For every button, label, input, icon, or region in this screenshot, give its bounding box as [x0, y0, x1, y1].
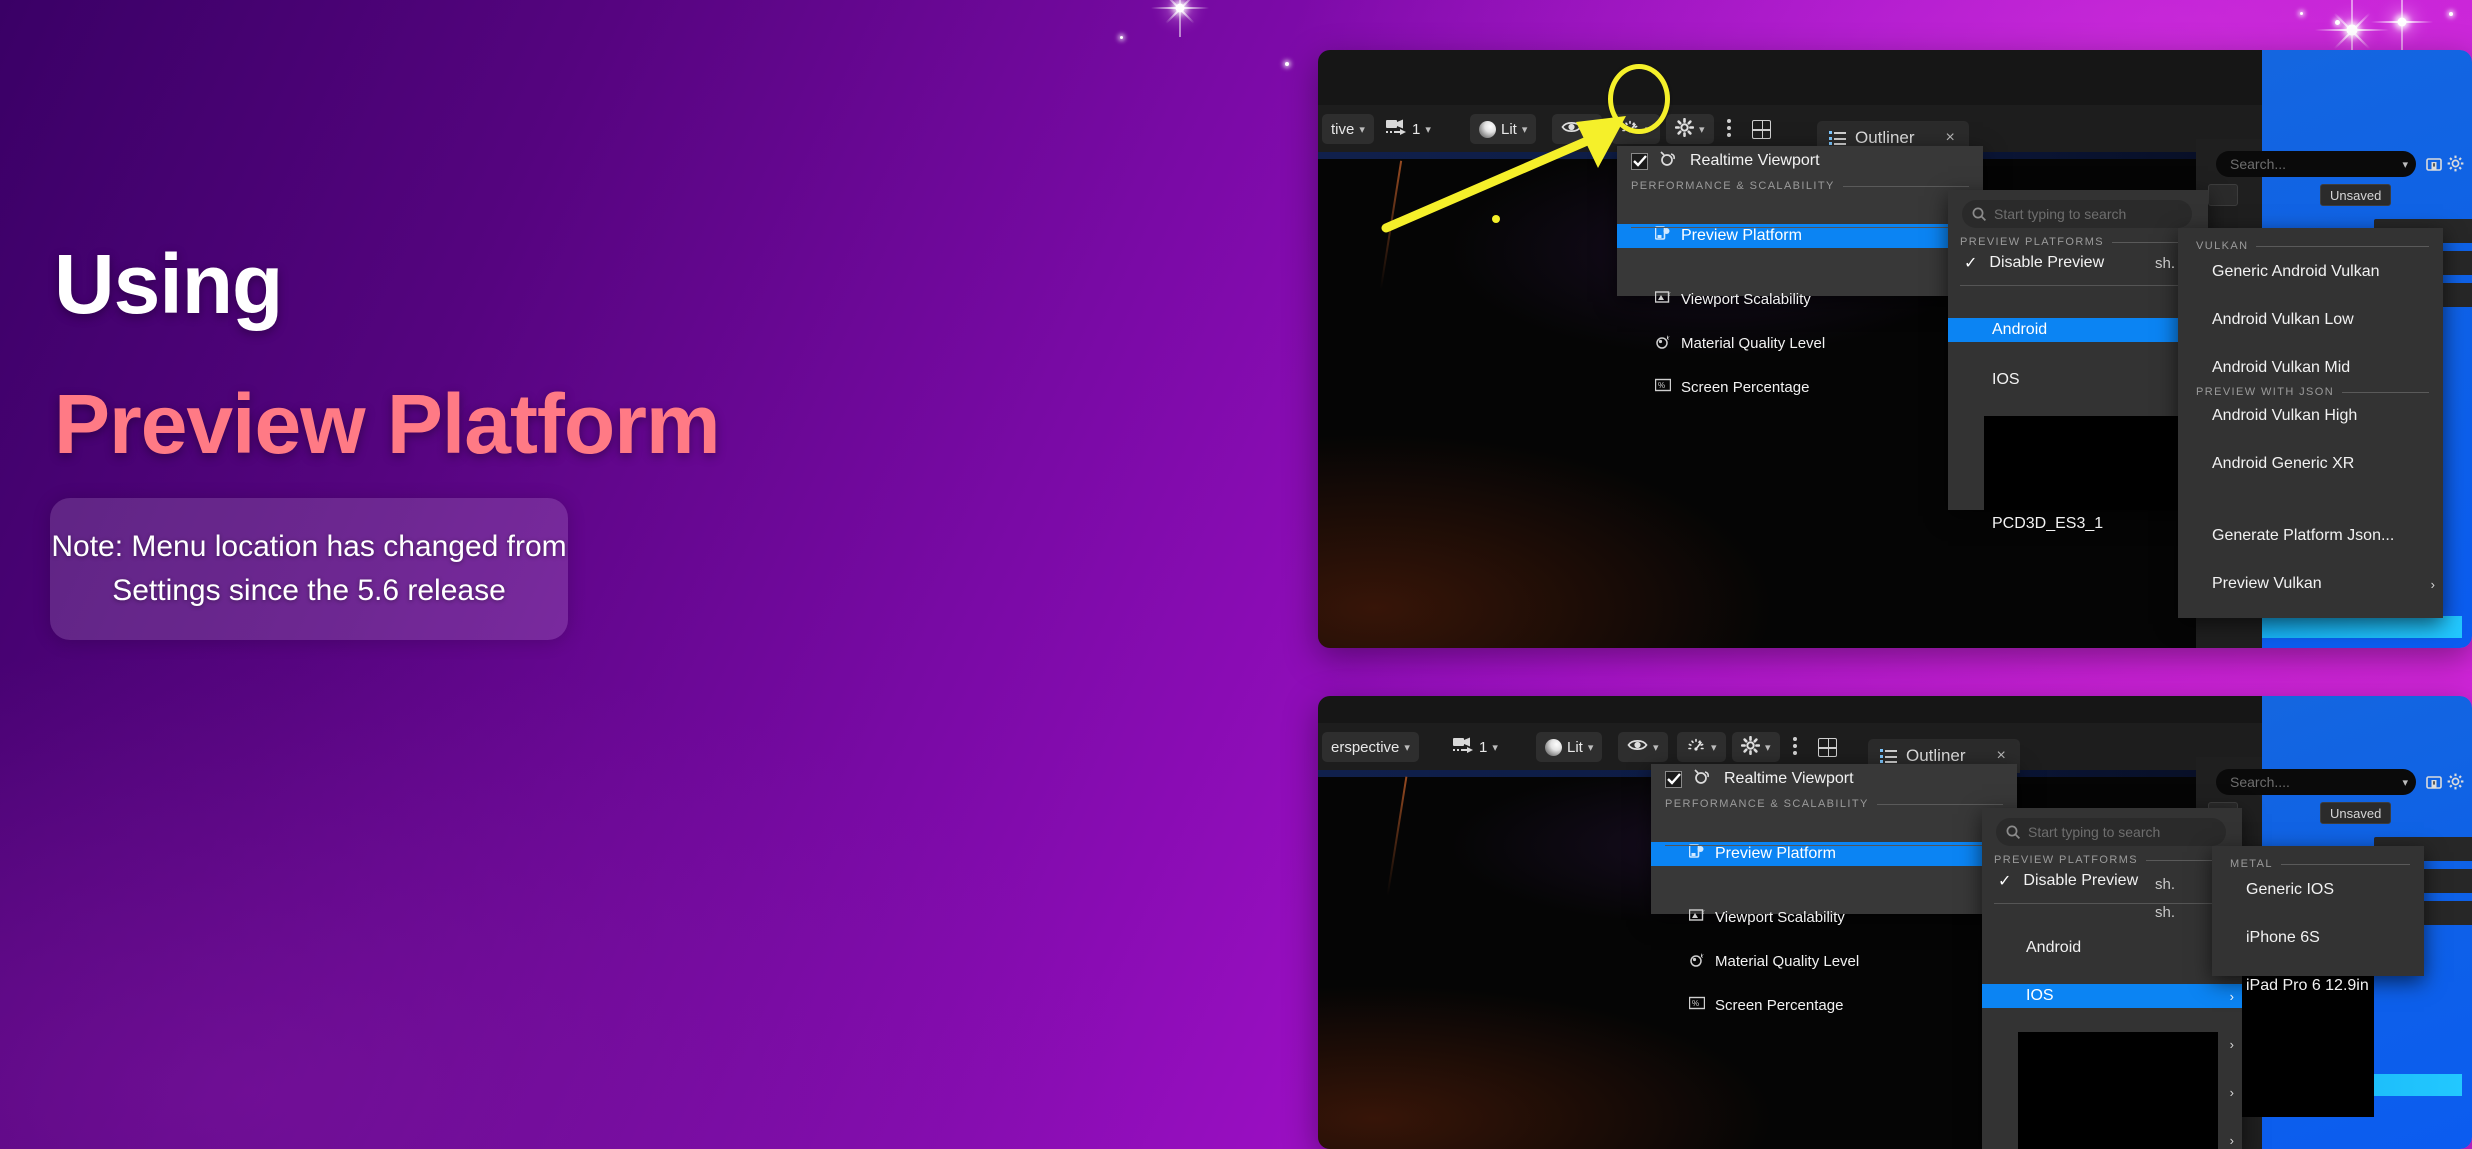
note-text: Note: Menu location has changed from Set… [50, 525, 568, 614]
menu-item-platform-label: Android [1992, 321, 2047, 339]
menu-section-performance: PERFORMANCE & SCALABILITY [1631, 180, 1969, 192]
menu-item-device[interactable]: iPhone 6S [2212, 926, 2424, 950]
menu-section-label: PERFORMANCE & SCALABILITY [1631, 180, 1835, 192]
menu-section-label: PREVIEW PLATFORMS [1994, 854, 2138, 866]
gear-icon [1675, 118, 1694, 141]
menu-item-json-label: Preview Vulkan [2212, 575, 2322, 593]
menu-section-label: VULKAN [2196, 240, 2248, 252]
menu-item-device[interactable]: Android Vulkan High [2178, 404, 2443, 428]
svg-text:%: % [1692, 999, 1699, 1008]
menu-item-preview-platform-label: Preview Platform [1681, 227, 1802, 245]
menu-item-screen-percentage[interactable]: % Screen Percentage › [1617, 376, 1983, 398]
outliner-partial-label: sh. [2155, 255, 2175, 272]
chevron-right-icon: › [2230, 1085, 2234, 1100]
page-title: Using Preview Platform [54, 240, 720, 468]
screenshot-bottom: Search.... ▾ Unsaved [1318, 696, 2472, 1149]
view-mode-label: erspective [1331, 739, 1399, 756]
menu-item-viewport-scalability[interactable]: Viewport Scalability › [1651, 906, 2017, 928]
platform-search-input[interactable]: Start typing to search [1996, 818, 2226, 846]
check-icon: ✓ [1998, 871, 2011, 891]
headline-line-1: Using [54, 240, 720, 328]
view-mode-lit-dropdown[interactable]: Lit ▾ [1536, 732, 1602, 762]
chevron-right-icon: › [2431, 577, 2435, 592]
unsaved-filter-button[interactable]: Unsaved [2320, 802, 2391, 824]
tab-outliner-label: Outliner [1906, 746, 1966, 766]
ios-device-submenu: METAL Generic IOS iPhone 6S iPad Pro 6 1… [2212, 846, 2424, 976]
chevron-down-icon: ▾ [1653, 741, 1659, 754]
performance-scalability-dropdown[interactable]: ▾ [1677, 732, 1726, 762]
chevron-down-icon[interactable]: ▾ [2402, 158, 2408, 171]
menu-item-preview-platform-label: Preview Platform [1715, 845, 1836, 863]
viewport-scalability-icon [1689, 908, 1705, 927]
layout-grid-button[interactable] [1812, 732, 1843, 762]
sparkle-dot [1120, 36, 1123, 39]
menu-section-label: METAL [2230, 858, 2273, 870]
outliner-search-input[interactable]: Search... ▾ [2216, 151, 2416, 177]
platform-search-placeholder: Start typing to search [1994, 206, 2126, 222]
menu-item-screen-percentage-label: Screen Percentage [1681, 379, 1809, 396]
submenu-empty-area [1984, 416, 2184, 510]
chevron-down-icon: ▾ [1699, 123, 1705, 136]
gear-icon[interactable] [2447, 155, 2464, 172]
menu-item-viewport-scalability[interactable]: Viewport Scalability › [1617, 288, 1983, 310]
menu-item-device[interactable]: Generic IOS [2212, 878, 2424, 902]
menu-item-realtime-viewport[interactable]: Realtime Viewport [1651, 764, 2017, 794]
more-options-button[interactable] [1721, 114, 1737, 144]
view-mode-label: tive [1331, 121, 1354, 138]
screenshot-top: Search... ▾ Unsaved [1318, 50, 2472, 648]
sparkle-dot [2449, 12, 2453, 16]
grid-layout-icon [1752, 120, 1771, 139]
menu-item-disable-preview-label: Disable Preview [2023, 872, 2138, 890]
menu-item-realtime-label: Realtime Viewport [1690, 152, 1820, 170]
close-icon[interactable]: × [1946, 129, 1955, 147]
show-flags-dropdown[interactable]: ▾ [1618, 732, 1668, 762]
menu-item-platform-android[interactable]: Android › [1982, 936, 2242, 960]
preview-platform-submenu: Start typing to search PREVIEW PLATFORMS… [1948, 190, 2208, 510]
menu-item-platform-label: IOS [1992, 371, 2020, 389]
chevron-down-icon: ▾ [1765, 741, 1771, 754]
gear-icon [1741, 736, 1760, 759]
sparkle-dot [2300, 12, 2303, 15]
menu-item-viewport-scalability-label: Viewport Scalability [1715, 909, 1845, 926]
outliner-partial-label: sh. [2155, 904, 2175, 921]
platform-search-placeholder: Start typing to search [2028, 824, 2160, 840]
menu-section-preview-json: PREVIEW WITH JSON [2196, 386, 2429, 398]
lit-label: Lit [1567, 739, 1583, 756]
preview-platform-icon [1689, 844, 1705, 864]
close-icon[interactable]: × [1997, 747, 2006, 765]
menu-item-device-label: iPad Pro 6 12.9in [2246, 977, 2369, 995]
menu-item-device[interactable]: Generic Android Vulkan [2178, 260, 2443, 284]
menu-item-disable-preview-label: Disable Preview [1989, 254, 2104, 272]
svg-text:%: % [1658, 381, 1665, 390]
menu-divider [1631, 227, 1969, 228]
android-device-submenu: VULKAN Generic Android Vulkan Android Vu… [2178, 228, 2443, 618]
camera-speed-dropdown[interactable]: 1 ▾ [1444, 732, 1507, 762]
camera-speed-label: 1 [1479, 739, 1487, 756]
menu-item-json-label: Generate Platform Json... [2212, 527, 2394, 545]
eye-icon [1627, 738, 1648, 756]
view-mode-dropdown[interactable]: erspective ▾ [1322, 732, 1419, 762]
realtime-icon [1660, 151, 1678, 172]
platform-search-input[interactable]: Start typing to search [1962, 200, 2192, 228]
scalability-menu: Realtime Viewport PERFORMANCE & SCALABIL… [1617, 146, 1983, 296]
speedometer-icon [1686, 735, 1706, 759]
pointer-arrow [1376, 110, 1646, 235]
menu-item-device-label: Android Generic XR [2212, 455, 2354, 473]
preview-platform-submenu: Start typing to search PREVIEW PLATFORMS… [1982, 808, 2242, 1149]
chevron-down-icon: ▾ [1588, 741, 1594, 754]
chevron-right-icon: › [2230, 1037, 2234, 1052]
menu-section-vulkan: VULKAN [2196, 240, 2429, 252]
chevron-right-icon: › [2230, 1133, 2234, 1148]
menu-item-material-quality-level[interactable]: Material Quality Level › [1651, 950, 2017, 972]
menu-section-preview-platforms: PREVIEW PLATFORMS [1960, 236, 2194, 248]
menu-item-disable-preview[interactable]: ✓ Disable Preview [1982, 868, 2242, 894]
menu-item-platform-pcd3d[interactable]: PCD3D_ES3_1 › [1948, 512, 2208, 536]
sparkle-dot [2335, 20, 2340, 25]
menu-item-realtime-label: Realtime Viewport [1724, 770, 1854, 788]
menu-item-generate-platform-json[interactable]: Generate Platform Json... [2178, 524, 2443, 548]
check-icon: ✓ [1964, 253, 1977, 273]
menu-section-metal: METAL [2230, 858, 2410, 870]
editor-titlebar [1318, 50, 2262, 105]
annotation-dot [1492, 215, 1500, 223]
outliner-icon [1880, 749, 1897, 763]
menu-item-device[interactable]: iPad Pro 6 12.9in [2212, 974, 2424, 998]
save-folder-icon[interactable] [2426, 156, 2442, 172]
more-options-button[interactable] [1787, 732, 1803, 762]
kebab-menu-icon [1727, 119, 1731, 140]
menu-divider [1665, 845, 2003, 846]
chevron-down-icon: ▾ [1492, 741, 1498, 754]
chevron-down-icon: ▾ [1359, 123, 1365, 136]
headline-line-2: Preview Platform [54, 380, 720, 468]
outliner-partial-label: sh. [2155, 876, 2175, 893]
viewport-streak [1387, 777, 1408, 896]
realtime-icon [1694, 769, 1712, 790]
outliner-search-placeholder: Search.... [2230, 774, 2290, 790]
menu-section-preview-platforms: PREVIEW PLATFORMS [1994, 854, 2228, 866]
menu-item-platform-android[interactable]: Android › [1948, 318, 2208, 342]
viewport-settings-dropdown[interactable]: ▾ [1732, 732, 1780, 762]
menu-item-device[interactable]: Android Generic XR [2178, 452, 2443, 476]
menu-item-device[interactable]: Android Vulkan Mid [2178, 356, 2443, 380]
menu-item-material-quality-level[interactable]: Material Quality Level › [1617, 332, 1983, 354]
menu-item-screen-percentage-label: Screen Percentage [1715, 997, 1843, 1014]
menu-item-device-label: iPhone 6S [2246, 929, 2320, 947]
screen-percentage-icon: % [1689, 996, 1705, 1015]
menu-item-device-label: Android Vulkan Low [2212, 311, 2354, 329]
material-quality-icon [1655, 334, 1671, 353]
menu-item-device-label: Generic Android Vulkan [2212, 263, 2380, 281]
screen-percentage-icon: % [1655, 378, 1671, 397]
menu-item-viewport-scalability-label: Viewport Scalability [1681, 291, 1811, 308]
menu-item-realtime-viewport[interactable]: Realtime Viewport [1617, 146, 1983, 176]
menu-section-label: PREVIEW WITH JSON [2196, 386, 2334, 398]
outliner-search-input[interactable]: Search.... ▾ [2216, 769, 2416, 795]
view-mode-dropdown[interactable]: tive ▾ [1322, 114, 1374, 144]
layout-grid-button[interactable] [1746, 114, 1777, 144]
gear-icon[interactable] [2447, 773, 2464, 790]
outliner-icon [1829, 131, 1846, 145]
menu-section-label: PERFORMANCE & SCALABILITY [1665, 798, 1869, 810]
preview-platform-icon [1655, 226, 1671, 246]
menu-item-device-label: Generic IOS [2246, 881, 2334, 899]
menu-item-device-label: Android Vulkan High [2212, 407, 2357, 425]
viewport-scalability-icon [1655, 290, 1671, 309]
material-quality-icon [1689, 952, 1705, 971]
checkbox-realtime[interactable] [1665, 771, 1682, 788]
search-icon [1972, 207, 1986, 221]
chevron-down-icon: ▾ [1404, 741, 1410, 754]
sparkle-dot [1285, 62, 1289, 66]
menu-item-platform-label: PCD3D_ES3_1 [1992, 515, 2103, 533]
scalability-menu: Realtime Viewport PERFORMANCE & SCALABIL… [1651, 764, 2017, 914]
menu-item-platform-label: IOS [2026, 987, 2054, 1005]
chevron-down-icon: ▾ [1711, 741, 1717, 754]
menu-divider [1994, 903, 2230, 904]
outliner-search-placeholder: Search... [2230, 156, 2286, 172]
grid-layout-icon [1818, 738, 1837, 757]
chevron-down-icon[interactable]: ▾ [2402, 776, 2408, 789]
menu-item-device-label: Android Vulkan Mid [2212, 359, 2350, 377]
menu-item-material-quality-label: Material Quality Level [1715, 953, 1859, 970]
submenu-empty-area [2018, 1032, 2218, 1149]
menu-item-device[interactable]: Android Vulkan Low [2178, 308, 2443, 332]
camera-speed-icon [1453, 737, 1474, 757]
menu-item-preview-vulkan[interactable]: Preview Vulkan › [2178, 572, 2443, 596]
unsaved-filter-button[interactable]: Unsaved [2320, 184, 2391, 206]
note-callout: Note: Menu location has changed from Set… [50, 498, 568, 640]
menu-section-performance: PERFORMANCE & SCALABILITY [1665, 798, 2003, 810]
kebab-menu-icon [1793, 737, 1797, 758]
menu-divider [1960, 285, 2196, 286]
menu-item-platform-label: Android [2026, 939, 2081, 957]
save-folder-icon[interactable] [2426, 774, 2442, 790]
filter-button[interactable] [2208, 184, 2238, 206]
menu-section-label: PREVIEW PLATFORMS [1960, 236, 2104, 248]
menu-item-screen-percentage[interactable]: % Screen Percentage › [1651, 994, 2017, 1016]
viewport-settings-dropdown[interactable]: ▾ [1666, 114, 1714, 144]
menu-item-platform-ios[interactable]: IOS › [1948, 368, 2208, 392]
menu-item-platform-ios[interactable]: IOS › [1982, 984, 2242, 1008]
menu-item-material-quality-label: Material Quality Level [1681, 335, 1825, 352]
lit-sphere-icon [1545, 739, 1562, 756]
search-icon [2006, 825, 2020, 839]
unreal-editor-window: Search.... ▾ Unsaved [1318, 696, 2472, 1149]
tab-outliner-label: Outliner [1855, 128, 1915, 148]
